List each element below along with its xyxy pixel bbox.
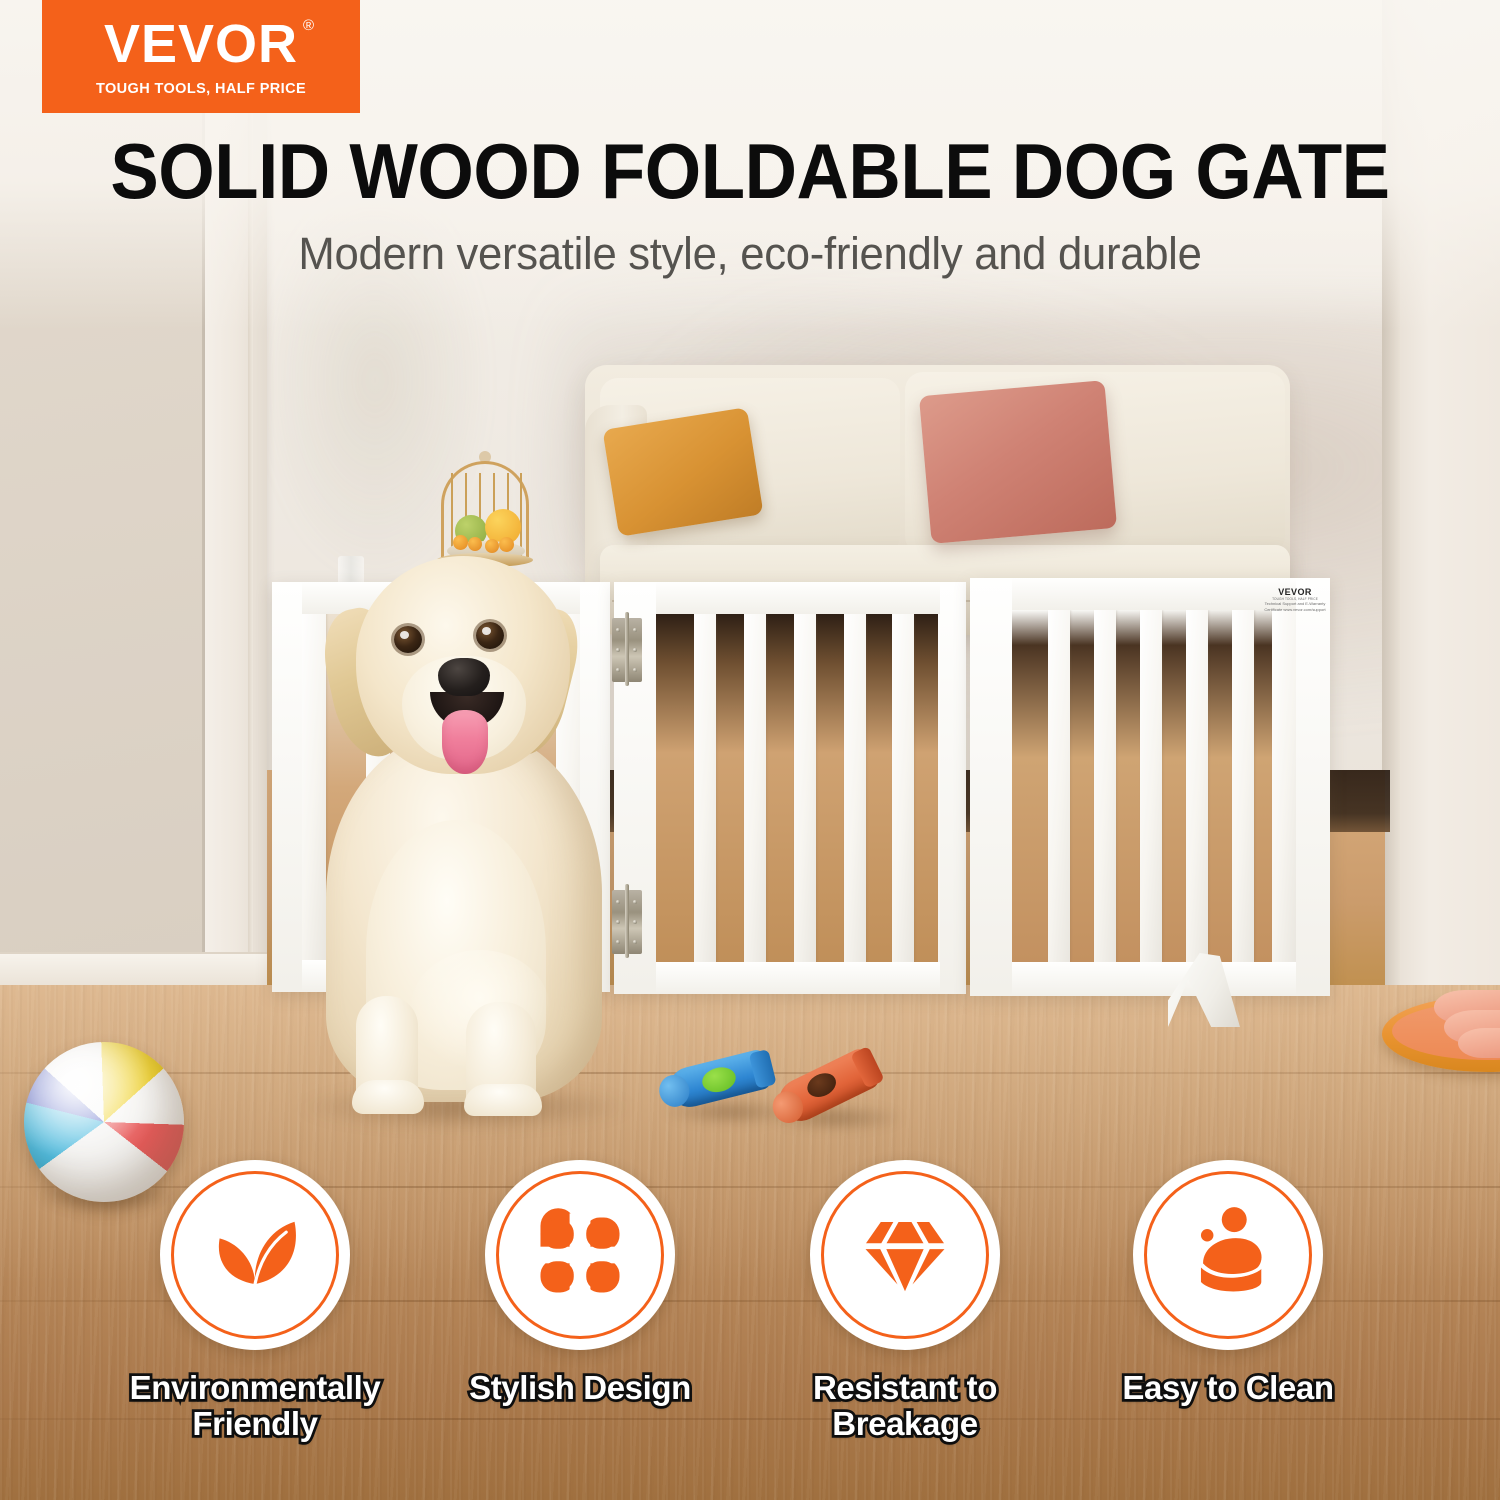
- feature-badge-row: EnvironmentallyFriendly: [0, 1160, 1500, 1500]
- gate-right-slat-1: [1048, 610, 1070, 962]
- dog-eye-right: [476, 622, 504, 649]
- gate-right-slat-6: [1272, 610, 1296, 962]
- logo-tagline: TOUGH TOOLS, HALF PRICE: [96, 81, 306, 97]
- clementine-2: [468, 537, 482, 551]
- gate-right-stile-right: [1296, 578, 1330, 996]
- gate-middle-slat-3: [794, 612, 816, 964]
- vevor-logo: VEVOR ® TOUGH TOOLS, HALF PRICE: [42, 0, 360, 113]
- feature-label: Resistant toBreakage: [813, 1370, 997, 1441]
- clementine-1: [453, 535, 468, 550]
- gate-middle-slat-2: [744, 612, 766, 964]
- gate-right-slat-5: [1232, 610, 1254, 962]
- feature-label: EnvironmentallyFriendly: [130, 1370, 381, 1441]
- dog-paw-left: [352, 1080, 424, 1114]
- label-brand: VEVOR: [1262, 588, 1328, 597]
- feature-stylish-design: Stylish Design: [420, 1160, 740, 1406]
- gate-middle-stile-right: [940, 582, 966, 994]
- label-line-2: Certificate www.vevor.com/support: [1262, 607, 1328, 613]
- rose-pillow: [919, 380, 1117, 544]
- product-marketing-image: VEVOR TOUGH TOOLS, HALF PRICE Technical …: [0, 0, 1500, 1500]
- gate-middle-top-rail: [614, 582, 966, 614]
- badge-circle: [810, 1160, 1000, 1350]
- registered-mark-icon: ®: [303, 18, 315, 33]
- clover-icon: [528, 1203, 632, 1307]
- leaf-icon: [203, 1203, 307, 1307]
- gate-right-slat-3: [1140, 610, 1162, 962]
- gate-right-slat-2: [1094, 610, 1116, 962]
- page-subtitle: Modern versatile style, eco-friendly and…: [23, 228, 1478, 280]
- gate-right-bottom-rail: [970, 962, 1330, 996]
- gate-right-stile-left: [970, 578, 1012, 996]
- badge-circle: [1133, 1160, 1323, 1350]
- feature-label: Easy to Clean: [1122, 1370, 1333, 1406]
- gate-middle-slat-5: [892, 612, 914, 964]
- gate-right-slat-4: [1186, 610, 1208, 962]
- dog-paw-right: [464, 1084, 542, 1116]
- logo-text: VEVOR: [104, 14, 298, 74]
- badge-circle: [160, 1160, 350, 1350]
- tray-item-3: [1458, 1028, 1500, 1058]
- logo-wordmark: VEVOR ®: [104, 17, 298, 71]
- gate-middle-slat-1: [694, 612, 716, 964]
- feature-label: Stylish Design: [469, 1370, 691, 1406]
- golden-retriever-dog: [290, 552, 650, 1120]
- feature-easy-to-clean: Easy to Clean: [1068, 1160, 1388, 1406]
- sponge-icon: [1176, 1203, 1280, 1307]
- gate-middle-slat-4: [844, 612, 866, 964]
- feature-environmentally-friendly: EnvironmentallyFriendly: [95, 1160, 415, 1441]
- amber-pillow: [602, 407, 763, 537]
- clementine-3: [485, 539, 499, 553]
- badge-circle: [485, 1160, 675, 1350]
- diamond-icon: [853, 1203, 957, 1307]
- feature-resistant-to-breakage: Resistant toBreakage: [745, 1160, 1065, 1441]
- clementine-4: [499, 537, 514, 552]
- gate-middle-bottom-rail: [614, 962, 966, 994]
- dog-eye-left: [394, 626, 422, 653]
- product-label-sticker: VEVOR TOUGH TOOLS, HALF PRICE Technical …: [1262, 588, 1328, 618]
- dog-nose: [438, 658, 490, 696]
- dog-tongue: [442, 710, 488, 774]
- page-title: SOLID WOOD FOLDABLE DOG GATE: [53, 132, 1448, 210]
